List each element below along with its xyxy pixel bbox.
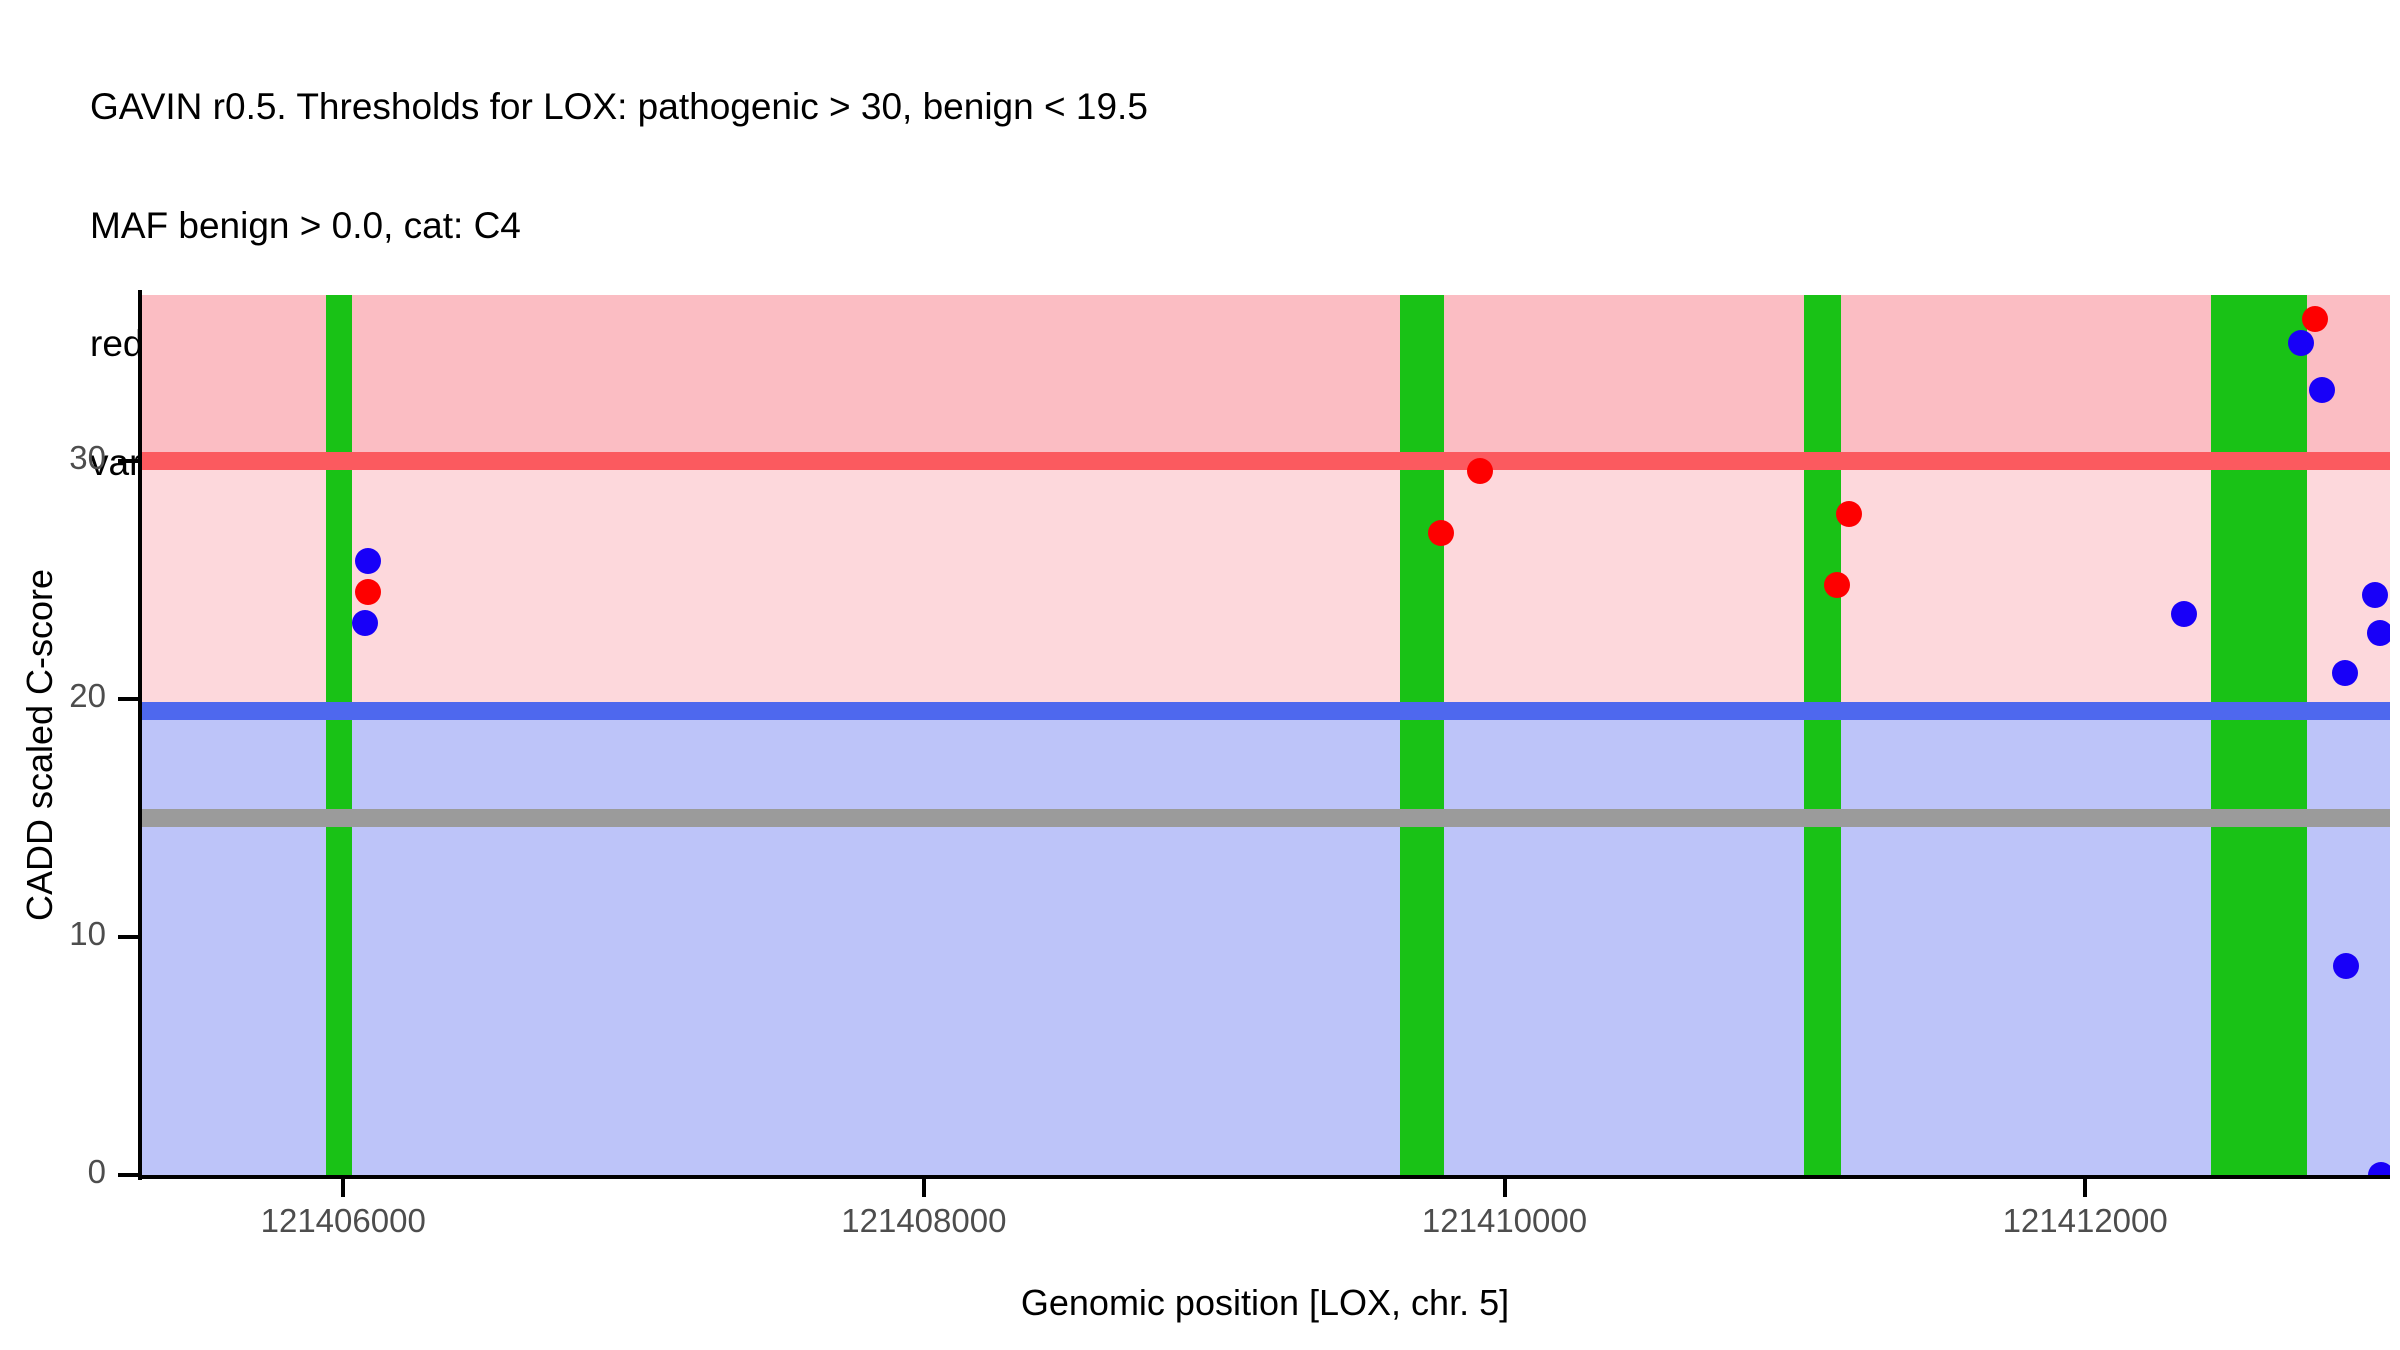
y-axis-line <box>138 290 142 1180</box>
clinvar-point[interactable] <box>1467 458 1493 484</box>
y-tick <box>118 1173 138 1177</box>
threshold-line-pathogenic <box>140 452 2390 470</box>
band-benign <box>140 711 2390 1175</box>
gnomad-point[interactable] <box>2367 620 2390 646</box>
x-tick <box>922 1179 926 1197</box>
threshold-line-benign <box>140 702 2390 720</box>
exon-band <box>2211 295 2307 1175</box>
x-tick <box>1503 1179 1507 1197</box>
band-vous <box>140 461 2390 711</box>
band-pathogenic-upper <box>140 295 2390 461</box>
x-tick-label: 121412000 <box>1925 1202 2245 1240</box>
y-tick-label: 0 <box>0 1153 106 1191</box>
gnomad-point[interactable] <box>2362 582 2388 608</box>
x-axis-line <box>138 1175 2390 1179</box>
x-axis-title: Genomic position [LOX, chr. 5] <box>140 1282 2390 1324</box>
y-tick <box>118 935 138 939</box>
title-line-2: MAF benign > 0.0, cat: C4 <box>90 206 2370 246</box>
gnomad-point[interactable] <box>2333 953 2359 979</box>
y-tick-label: 20 <box>0 677 106 715</box>
clinvar-point[interactable] <box>1428 520 1454 546</box>
plot-root: GAVIN r0.5. Thresholds for LOX: pathogen… <box>0 0 2400 1350</box>
clinvar-point[interactable] <box>1824 572 1850 598</box>
exon-band <box>326 295 352 1175</box>
y-tick <box>118 697 138 701</box>
gnomad-point[interactable] <box>2171 601 2197 627</box>
title-line-1: GAVIN r0.5. Thresholds for LOX: pathogen… <box>90 87 2370 127</box>
y-tick-label: 10 <box>0 915 106 953</box>
plot-panel <box>140 295 2390 1175</box>
clinvar-point[interactable] <box>2302 306 2328 332</box>
y-tick-label: 30 <box>0 439 106 477</box>
clinvar-point[interactable] <box>1836 501 1862 527</box>
threshold-line-genome-wide-fallback <box>140 809 2390 827</box>
exon-band <box>1804 295 1842 1175</box>
gnomad-point[interactable] <box>2309 377 2335 403</box>
clinvar-point[interactable] <box>355 579 381 605</box>
x-tick-label: 121410000 <box>1345 1202 1665 1240</box>
gnomad-point[interactable] <box>2288 330 2314 356</box>
y-tick <box>118 459 138 463</box>
x-tick <box>2083 1179 2087 1197</box>
x-tick-label: 121408000 <box>764 1202 1084 1240</box>
gnomad-point[interactable] <box>2332 660 2358 686</box>
x-tick-label: 121406000 <box>183 1202 503 1240</box>
x-tick <box>341 1179 345 1197</box>
exon-band <box>1400 295 1444 1175</box>
